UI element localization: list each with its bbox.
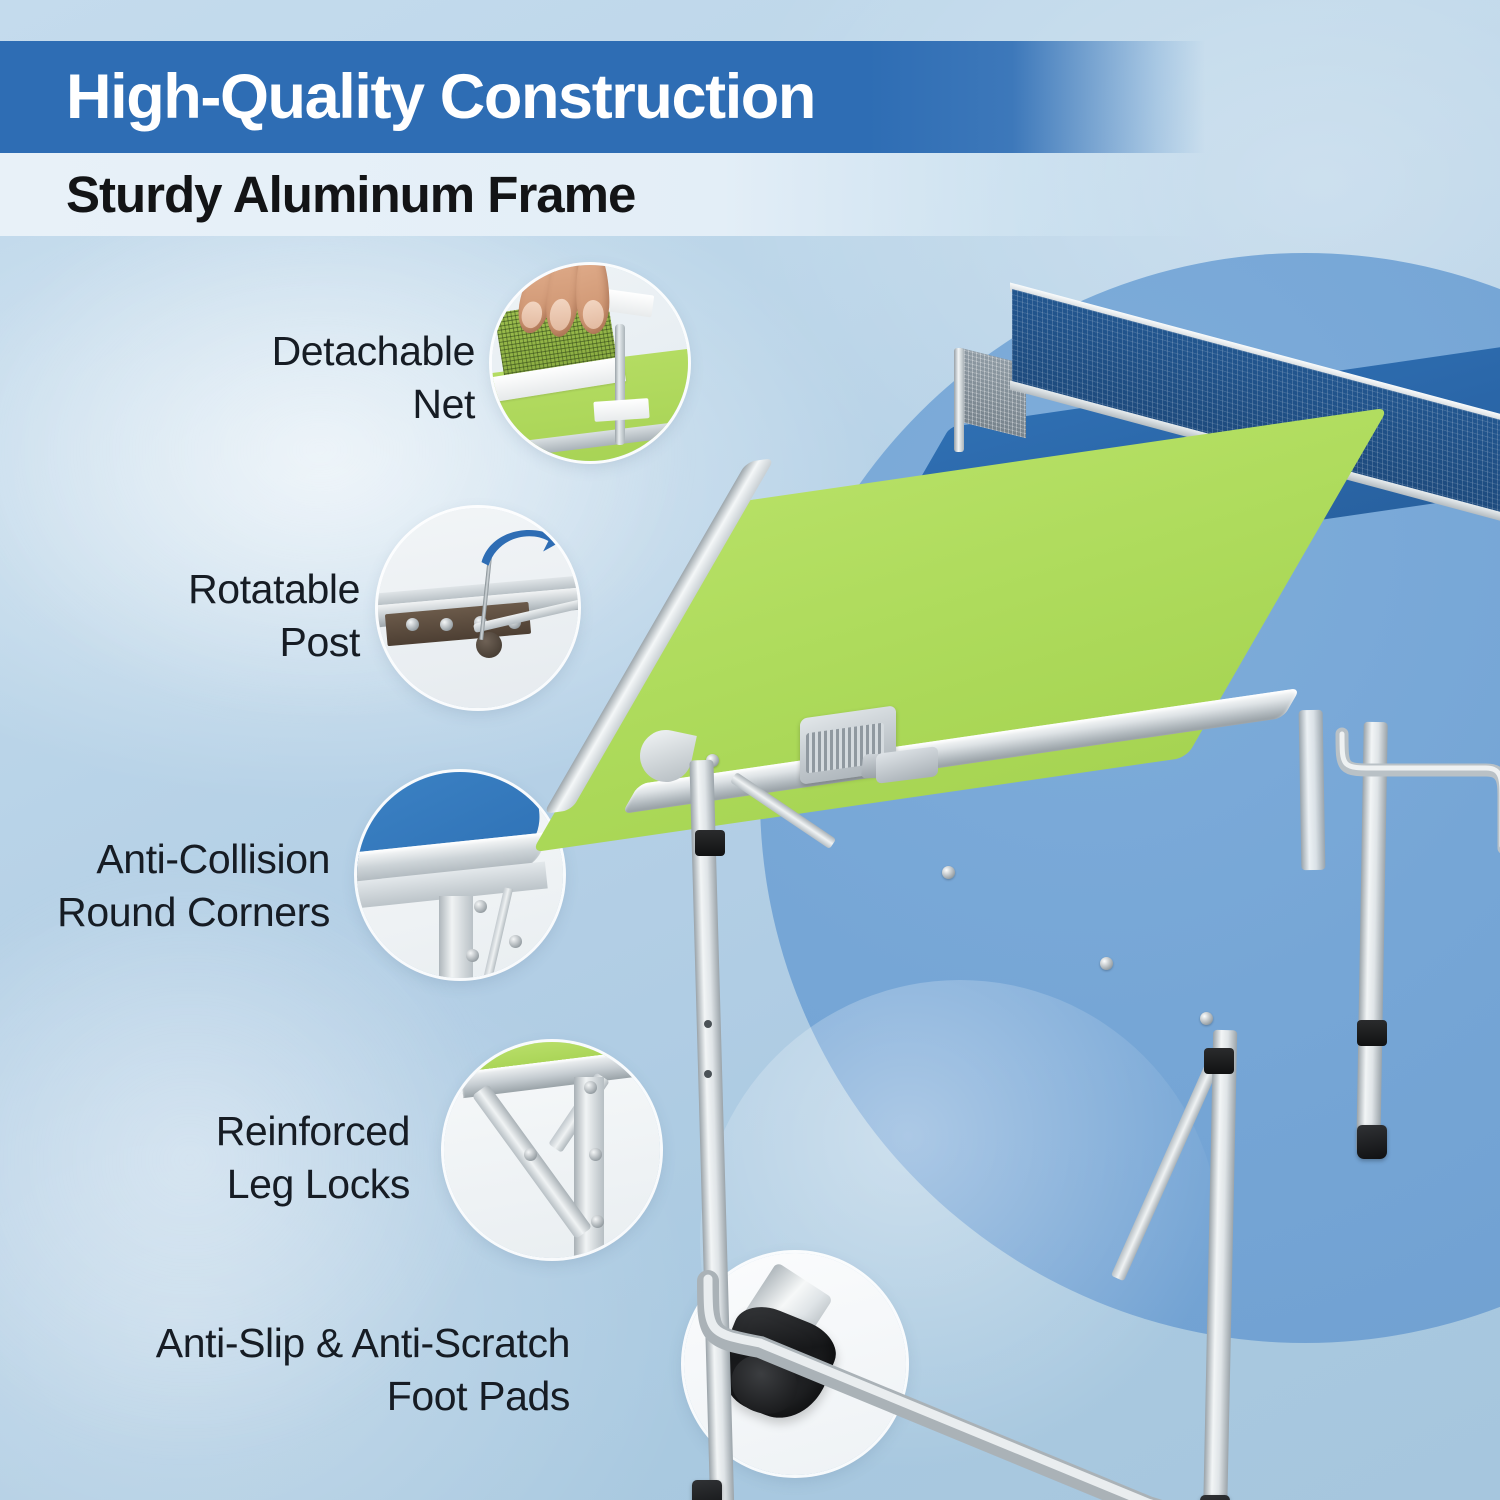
infographic-canvas: High-Quality Construction Sturdy Aluminu…: [0, 0, 1500, 1500]
page-subtitle: Sturdy Aluminum Frame: [66, 169, 635, 220]
height-collar-back-right: [1357, 1020, 1387, 1046]
lock-pivot-screw: [524, 1148, 537, 1161]
foot-pad-back-right: [1357, 1125, 1387, 1159]
height-collar-front-right: [1204, 1048, 1234, 1074]
table-leg-back-left: [1299, 710, 1326, 870]
frame-rivet-2: [942, 866, 955, 879]
title-banner: High-Quality Construction: [0, 41, 1205, 153]
feature-label-round-corners: Anti-Collision Round Corners: [10, 833, 330, 940]
feature-label-detachable-net: Detachable Net: [110, 325, 475, 432]
subtitle-banner: Sturdy Aluminum Frame: [0, 153, 1205, 236]
screw-2: [440, 618, 453, 631]
feature-label-rotatable-post: Rotatable Post: [60, 563, 360, 670]
finger-3: [574, 265, 610, 335]
rotation-arrow-icon: [478, 518, 566, 578]
round-corner-icon: [357, 772, 563, 978]
back-leg-cross-brace: [1336, 730, 1500, 850]
product-image-ping-pong-table: [600, 330, 1500, 1480]
feature-label-leg-locks: Reinforced Leg Locks: [100, 1105, 410, 1212]
fingernail-2: [548, 298, 573, 333]
header: High-Quality Construction Sturdy Aluminu…: [0, 0, 1500, 236]
front-leg-cross-brace: [696, 1285, 1242, 1301]
rotating-post-icon: [378, 508, 578, 708]
frame-rivet-3: [1100, 957, 1113, 970]
feature-label-foot-pads: Anti-Slip & Anti-Scratch Foot Pads: [100, 1317, 570, 1424]
page-title: High-Quality Construction: [66, 66, 815, 129]
screw-1: [406, 618, 419, 631]
height-adjust-hole-1: [704, 1020, 712, 1028]
table-leg: [439, 896, 473, 978]
height-adjust-hole-2: [704, 1070, 712, 1078]
height-collar-front-left: [695, 830, 725, 856]
frame-rivet-4: [1200, 1012, 1213, 1025]
fingernail-1: [519, 300, 545, 331]
fingernail-3: [582, 299, 605, 329]
net-post-left: [954, 348, 964, 452]
